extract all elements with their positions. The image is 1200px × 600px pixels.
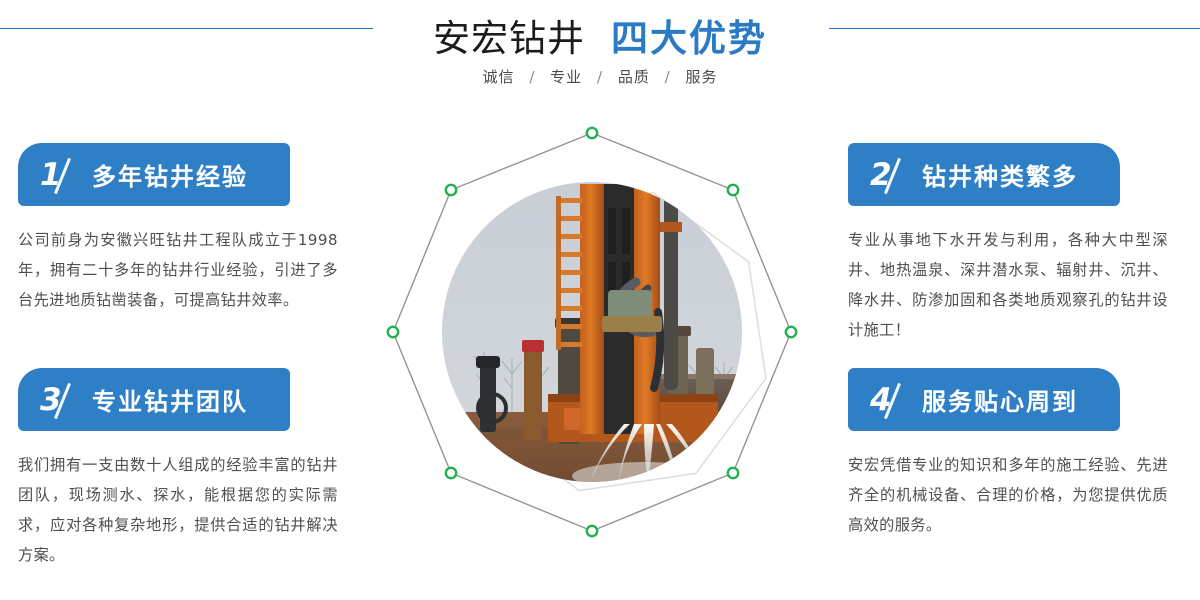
badge-number-icon-2: 2 [870,153,914,197]
subtitle-item-0: 诚信 [483,68,515,86]
vertex-marker-n [587,128,597,138]
advantage-body-2: 专业从事地下水开发与利用，各种大中型深井、地热温泉、深井潜水泵、辐射井、沉井、降… [848,225,1168,345]
badge-number-icon-3: 3 [40,378,84,422]
badge-number-icon-4: 4 [870,378,914,422]
vertex-marker-w [388,327,398,337]
advantage-body-3: 我们拥有一支由数十人组成的经验丰富的钻井团队，现场测水、探水，能根据您的实际需求… [18,450,338,570]
vertex-marker-se [728,468,738,478]
advantage-card-2[interactable]: 2 钻井种类繁多 专业从事地下水开发与利用，各种大中型深井、地热温泉、深井潜水泵… [848,143,1188,345]
subtitle-separator-1: / [597,68,603,86]
drilling-rig-photo [442,182,747,492]
vertex-marker-nw [446,185,456,195]
center-graphic [372,112,812,552]
advantage-badge-2: 2 钻井种类繁多 [848,143,1120,206]
advantage-body-1: 公司前身为安徽兴旺钻井工程队成立于1998年，拥有二十多年的钻井行业经验，引进了… [18,225,338,315]
title-brand: 安宏钻井 [433,17,585,60]
subtitle-item-2: 品质 [618,68,650,86]
advantage-title-1: 多年钻井经验 [92,157,248,192]
advantage-title-3: 专业钻井团队 [92,382,248,417]
advantage-card-1[interactable]: 1 多年钻井经验 公司前身为安徽兴旺钻井工程队成立于1998年，拥有二十多年的钻… [18,143,358,315]
page-title: 安宏钻井四大优势 [0,8,1200,62]
advantage-title-2: 钻井种类繁多 [922,157,1078,192]
advantage-card-3[interactable]: 3 专业钻井团队 我们拥有一支由数十人组成的经验丰富的钻井团队，现场测水、探水，… [18,368,358,570]
advantage-badge-1: 1 多年钻井经验 [18,143,290,206]
advantage-badge-4: 4 服务贴心周到 [848,368,1120,431]
advantage-title-4: 服务贴心周到 [922,382,1078,417]
page-subtitle: 诚信 / 专业 / 品质 / 服务 [0,66,1200,87]
advantage-body-4: 安宏凭借专业的知识和多年的施工经验、先进齐全的机械设备、合理的价格，为您提供优质… [848,450,1168,540]
title-accent: 四大优势 [611,17,767,60]
vertex-marker-s [587,526,597,536]
vertex-marker-sw [446,468,456,478]
subtitle-separator-2: / [665,68,671,86]
vertex-marker-e [786,327,796,337]
badge-number-icon-1: 1 [40,153,84,197]
vertex-marker-ne [728,185,738,195]
subtitle-item-3: 服务 [685,68,717,86]
promo-page: 安宏钻井四大优势 诚信 / 专业 / 品质 / 服务 1 多年钻井经验 公司前身… [0,0,1200,600]
advantage-badge-3: 3 专业钻井团队 [18,368,290,431]
page-header: 安宏钻井四大优势 诚信 / 专业 / 品质 / 服务 [0,0,1200,110]
advantage-card-4[interactable]: 4 服务贴心周到 安宏凭借专业的知识和多年的施工经验、先进齐全的机械设备、合理的… [848,368,1188,540]
subtitle-item-1: 专业 [550,68,582,86]
subtitle-separator-0: / [529,68,535,86]
octagon-frame-svg [372,112,812,552]
